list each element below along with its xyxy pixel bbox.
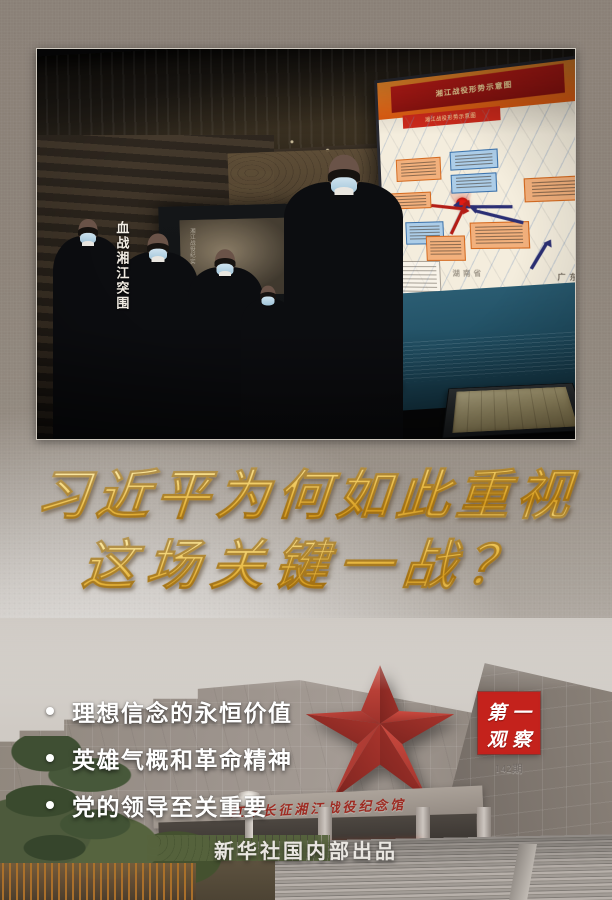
display-case-2-document (452, 386, 575, 433)
program-seal-block: 第 一 观 察 142期 (478, 692, 540, 776)
exhibit-vertical-subtitle: 湘江战役纪实 (188, 228, 196, 407)
headline-line-2: 这场关键一战？ (0, 536, 612, 596)
person-1-collar (334, 187, 353, 195)
person-1-primary (284, 182, 402, 439)
map-callout-orange-5 (469, 221, 530, 250)
bullet-dot-icon (46, 754, 54, 762)
hero-photo: 血战湘江突围 湘江战役纪实 湘江战役形势示意图 湘江战役形势示意图 (36, 48, 576, 440)
program-seal: 第 一 观 察 (478, 692, 540, 754)
headline: 习近平为何如此重视 这场关键一战？ (0, 466, 612, 596)
person-2-collar (219, 271, 231, 276)
hero-photo-inner: 血战湘江突围 湘江战役纪实 湘江战役形势示意图 湘江战役形势示意图 (37, 49, 575, 439)
map-callout-blue-2 (450, 172, 497, 194)
producer-credit: 新华社国内部出品 (0, 835, 612, 864)
seal-char-1: 第 (484, 698, 509, 725)
map-callout-orange-4 (425, 236, 466, 261)
list-item: 党的领导至关重要 (46, 788, 293, 822)
headline-line-1: 习近平为何如此重视 (0, 466, 612, 526)
exhibit-vertical-title: 血战湘江突围 (112, 221, 131, 311)
bullet-text-3: 党的领导至关重要 (72, 788, 268, 822)
person-3-collar (152, 256, 165, 262)
map-province-label-hunan: 湖南省 (452, 268, 484, 279)
map-callout-blue-1 (449, 149, 498, 172)
seal-char-2: 一 (509, 698, 534, 725)
map-callout-orange-1 (395, 157, 441, 182)
bullet-text-1: 理想信念的永恒价值 (72, 694, 293, 728)
seal-char-4: 察 (509, 725, 534, 752)
flowerbed-border (0, 863, 196, 900)
person-5-face-mask (262, 296, 275, 305)
map-callout-orange-3 (524, 175, 575, 203)
poster-root: 血战湘江突围 湘江战役纪实 湘江战役形势示意图 湘江战役形势示意图 (0, 0, 612, 900)
list-item: 理想信念的永恒价值 (46, 694, 293, 728)
issue-number: 142期 (478, 761, 540, 776)
battle-map-panel: 湘江战役形势示意图 湘江战役形势示意图 (374, 49, 575, 313)
seal-char-3: 观 (484, 725, 509, 752)
bullet-list: 理想信念的永恒价值 英雄气概和革命精神 党的领导至关重要 (46, 694, 293, 835)
person-4-collar (82, 241, 94, 246)
list-item: 英雄气概和革命精神 (46, 741, 293, 775)
display-case-2 (442, 383, 575, 439)
bullet-dot-icon (46, 707, 54, 715)
bullet-text-2: 英雄气概和革命精神 (72, 741, 293, 775)
scene-top-fade (0, 618, 612, 691)
bullet-dot-icon (46, 801, 54, 809)
map-face: 广东省 湖南省 (378, 97, 575, 310)
